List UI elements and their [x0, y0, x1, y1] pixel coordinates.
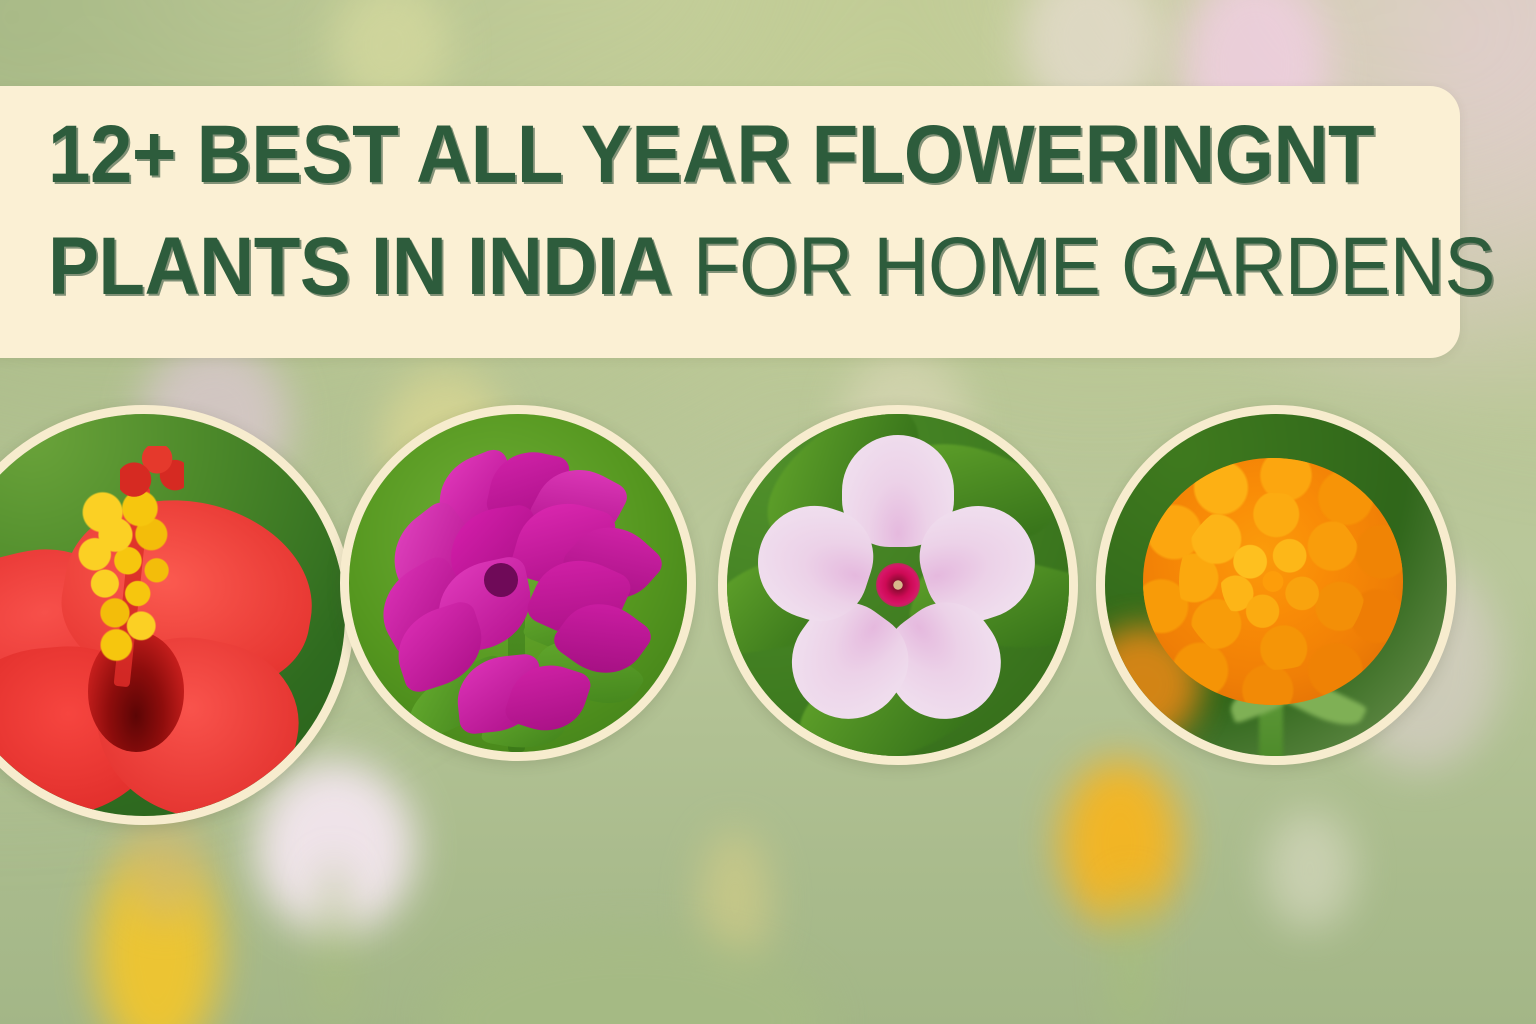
bokeh-stem-white-left	[320, 860, 348, 1024]
title-space	[672, 221, 693, 312]
flower-circle-periwinkle	[718, 405, 1078, 765]
marigold-flower-head	[1143, 458, 1403, 704]
title-banner: 12+ BEST ALL YEAR FLOWERINGNT PLANTS IN …	[0, 86, 1460, 358]
page-title-emphasis: PLANTS IN INDIA	[48, 221, 672, 312]
marigold-photo	[1105, 414, 1447, 756]
page-title-line-2: PLANTS IN INDIA FOR HOME GARDENS	[48, 226, 1361, 308]
bougainvillea-photo	[349, 414, 687, 752]
hibiscus-anthers	[68, 486, 188, 671]
flower-circle-bougainvillea	[340, 405, 696, 761]
hibiscus-stigma	[120, 446, 184, 502]
marigold-petal-ring-inner	[1221, 532, 1325, 631]
periwinkle-photo	[727, 414, 1069, 756]
bougainvillea-floret-center	[484, 563, 518, 597]
flower-circle-hibiscus	[0, 405, 354, 825]
hibiscus-photo	[0, 414, 345, 816]
page-title-line-1: 12+ BEST ALL YEAR FLOWERINGNT	[48, 114, 1361, 196]
title-banner-inner: 12+ BEST ALL YEAR FLOWERINGNT PLANTS IN …	[0, 86, 1460, 358]
flower-circle-marigold	[1096, 405, 1456, 765]
bokeh-white-bloom-right	[1265, 810, 1355, 930]
periwinkle-eye	[876, 563, 920, 607]
page-title-subphrase: FOR HOME GARDENS	[693, 221, 1495, 312]
